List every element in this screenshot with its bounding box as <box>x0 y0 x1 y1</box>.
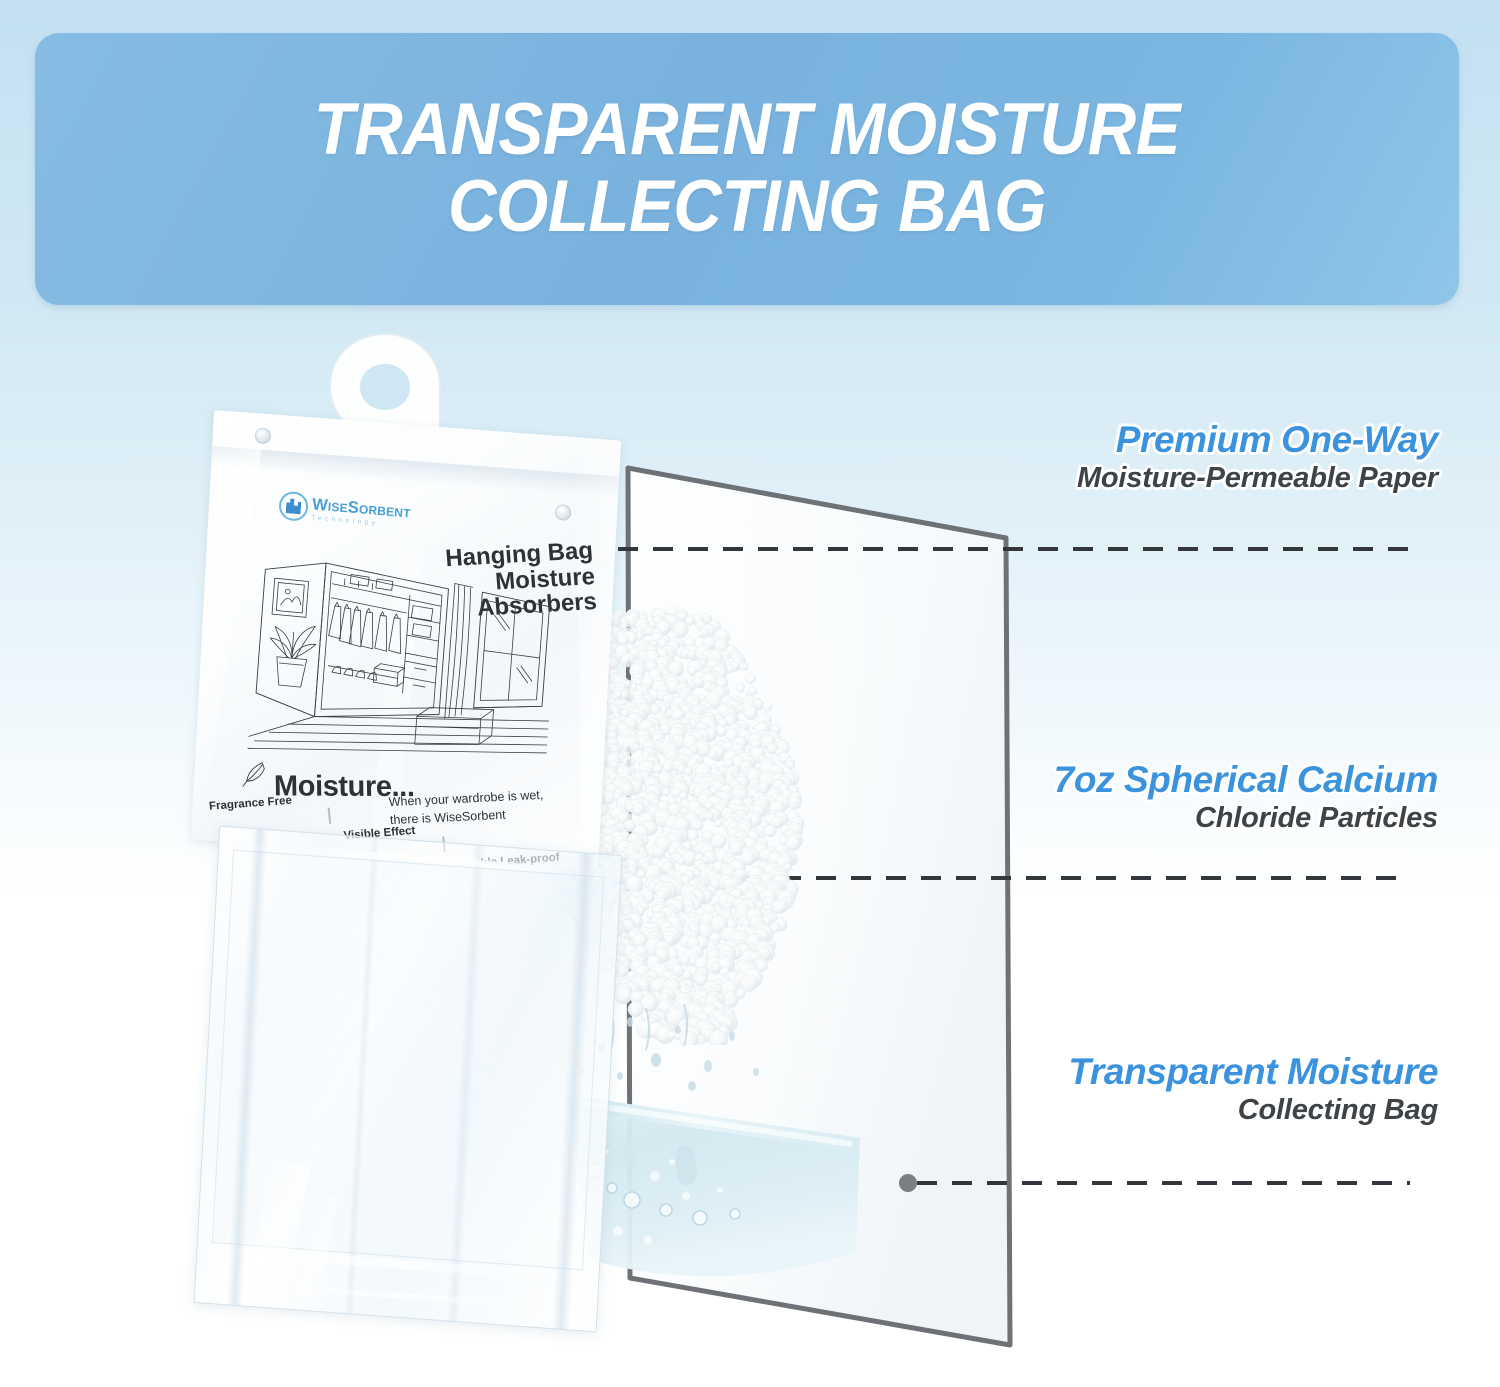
grommet-right-icon <box>555 504 572 521</box>
callout-premium-paper-sub: Moisture-Permeable Paper <box>1077 462 1438 495</box>
callout-collecting-bag-sub: Collecting Bag <box>1068 1094 1438 1127</box>
leader-line-collecting-bag <box>899 1174 1410 1192</box>
grommet-left-icon <box>254 427 271 444</box>
calcium-bead <box>772 900 786 914</box>
leaf-droplet-icon <box>240 759 271 789</box>
header-banner: TRANSPARENT MOISTURE COLLECTING BAG <box>35 33 1459 305</box>
callout-premium-paper-main: Premium One-Way <box>1077 420 1438 460</box>
calcium-bead <box>786 761 795 770</box>
calcium-bead <box>729 842 743 856</box>
bag-paper-label: WiseSorbent Technology Hanging Bag Moist… <box>191 410 621 870</box>
pouch-inner-panel <box>212 850 604 1271</box>
feature-separator <box>328 808 331 824</box>
calcium-bead <box>748 686 757 695</box>
calcium-bead <box>788 796 802 810</box>
calcium-bead <box>763 702 772 711</box>
brand-logo: WiseSorbent Technology <box>278 491 411 531</box>
callout-calcium-chloride-main: 7oz Spherical Calcium <box>1054 760 1438 800</box>
calcium-bead <box>685 615 695 625</box>
callout-collecting-bag: Transparent Moisture Collecting Bag <box>1068 1052 1438 1127</box>
page-title-line-1: TRANSPARENT MOISTURE <box>314 92 1180 169</box>
calcium-bead <box>764 825 776 837</box>
calcium-bead <box>715 820 723 828</box>
callout-calcium-chloride-sub: Chloride Particles <box>1054 802 1438 835</box>
infographic-canvas: TRANSPARENT MOISTURE COLLECTING BAG <box>0 0 1500 1387</box>
calcium-bead <box>746 673 756 683</box>
calcium-bead <box>705 811 714 820</box>
calcium-bead <box>673 622 689 638</box>
calcium-bead <box>740 662 749 671</box>
calcium-bead <box>677 857 685 865</box>
calcium-bead <box>744 706 758 720</box>
bag-tagline: When your wardrobe is wet, there is Wise… <box>388 785 570 830</box>
closet-illustration <box>246 551 560 779</box>
page-title-line-2: COLLECTING BAG <box>448 169 1046 246</box>
product-hanging-bag: WiseSorbent Technology Hanging Bag Moist… <box>180 330 650 1340</box>
transparent-collecting-pouch <box>194 826 623 1333</box>
hanger-hook-cutout <box>360 364 410 410</box>
wisesorbent-mark-icon <box>278 491 309 522</box>
callout-collecting-bag-main: Transparent Moisture <box>1068 1052 1438 1092</box>
feature-fragrance-free: Fragrance Free <box>209 795 293 813</box>
calcium-bead <box>653 763 663 773</box>
calcium-bead <box>688 651 696 659</box>
leader-line-calcium-chloride <box>728 869 1410 887</box>
calcium-bead <box>708 750 717 759</box>
callout-premium-paper: Premium One-Way Moisture-Permeable Paper <box>1077 420 1438 495</box>
calcium-bead <box>741 975 758 992</box>
calcium-bead <box>736 685 744 693</box>
callout-calcium-chloride: 7oz Spherical Calcium Chloride Particles <box>1054 760 1438 835</box>
calcium-bead <box>726 665 734 673</box>
calcium-bead <box>697 631 704 638</box>
